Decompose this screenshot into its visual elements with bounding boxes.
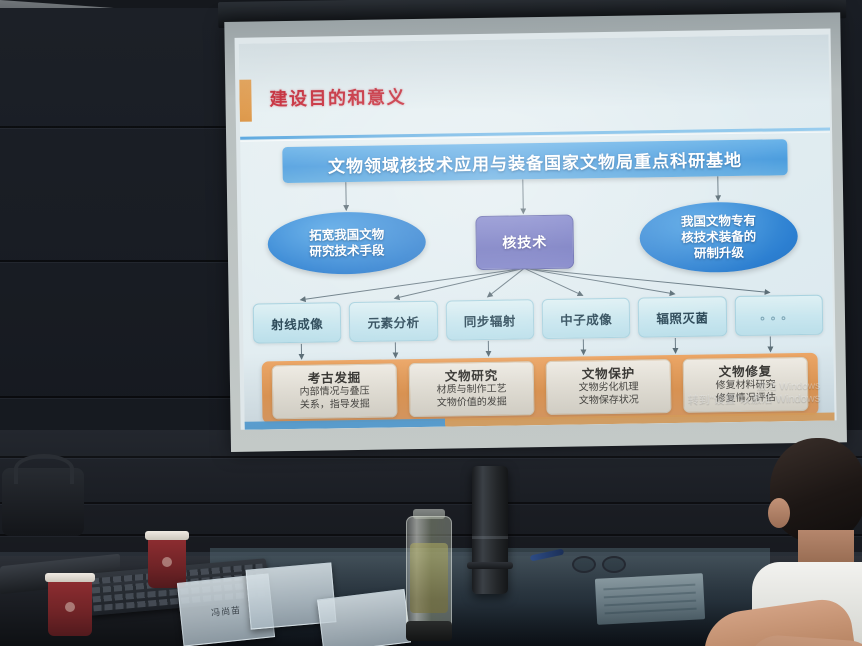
windows-activation-watermark: 激活 Windows 转到"设置"以激活 Windows [688,380,821,408]
core-technology-box: 核技术 [475,215,574,271]
application-line2: 文物保存状况 [579,395,639,408]
technique-box: 射线成像 [253,302,342,343]
application-line2: 文物价值的发掘 [437,397,507,410]
application-line1: 材质与制作工艺 [437,384,507,397]
attendee-ear [768,498,790,528]
projection-screen: 建设目的和意义 [224,0,847,452]
goal-right-label: 我国文物专有 核技术装备的 研制升级 [681,213,757,262]
conference-room-photo: 建设目的和意义 [0,0,862,646]
technique-box: 同步辐射 [445,299,534,340]
name-tent-card [317,589,411,646]
watermark-line-2: 转到"设置"以激活 Windows [688,393,821,409]
application-line1: 内部情况与叠压 [300,386,370,399]
application-line1: 文物劣化机理 [578,382,638,395]
technique-label: 元素分析 [367,311,419,331]
name-tent-label: 冯尚苗 [211,603,242,619]
title-accent-bar [239,80,252,122]
glass-tea-bottle [406,516,452,636]
application-card: 文物保护 文物劣化机理 文物保存状况 [546,359,672,415]
goal-left-label: 拓宽我国文物 研究技术手段 [309,227,385,260]
technique-label: 中子成像 [560,308,612,328]
technique-label: 同步辐射 [464,310,516,330]
application-title: 文物研究 [445,368,498,383]
slide-title: 建设目的和意义 [269,83,406,111]
paper-cup [148,538,186,588]
paper-cup [48,580,92,636]
bag [2,468,84,536]
technique-box: 中子成像 [542,298,631,339]
application-title: 文物保护 [582,366,635,381]
technique-box: 元素分析 [349,301,438,342]
technique-label: 。。。 [760,307,797,324]
seated-attendee [742,438,862,646]
application-title: 文物修复 [719,364,772,379]
technique-label: 辐照灭菌 [656,307,708,327]
technique-label: 射线成像 [271,313,323,333]
presentation-slide: 建设目的和意义 [239,35,835,430]
application-card: 文物研究 材质与制作工艺 文物价值的发掘 [409,361,535,417]
diagram-header-label: 文物领域核技术应用与装备国家文物局重点科研基地 [328,145,742,176]
technique-box-ellipsis: 。。。 [734,295,823,336]
eyeglasses [572,556,624,570]
technique-box: 辐照灭菌 [638,296,727,337]
application-card: 考古发掘 内部情况与叠压 关系，指导发掘 [272,363,398,419]
application-line2: 关系，指导发掘 [300,399,370,412]
document-on-table [595,573,705,625]
core-technology-label: 核技术 [502,232,547,253]
thermos-flask [472,466,508,594]
application-title: 考古发掘 [308,371,361,386]
